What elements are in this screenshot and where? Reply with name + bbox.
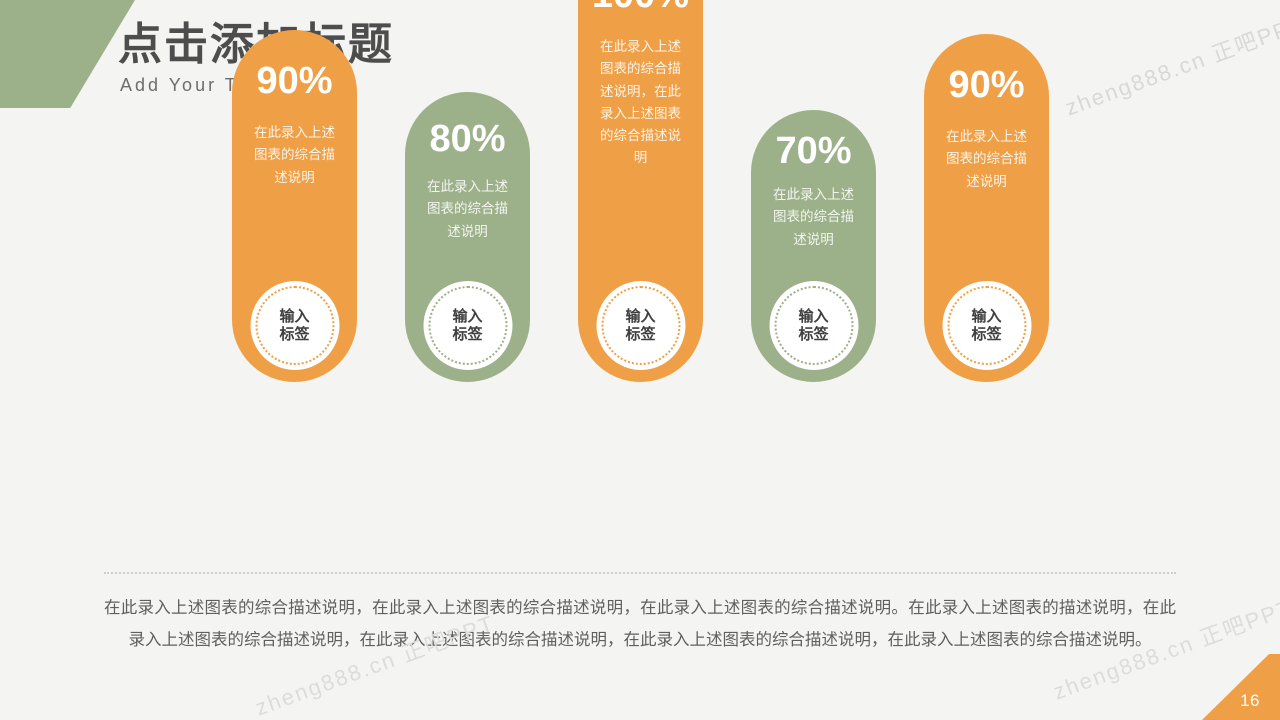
bar-label-circle-1[interactable]: 输入标签 [250,281,339,370]
bar-label-text-4: 输入标签 [797,308,831,343]
bar-label-circle-3[interactable]: 输入标签 [596,281,685,370]
bar-label-text-1: 输入标签 [278,308,312,343]
bar-item-5[interactable]: 90% 在此录入上述图表的综合描述说明 输入标签 [924,34,1049,382]
bar-percent-4: 70% [775,132,851,170]
bar-item-1[interactable]: 90% 在此录入上述图表的综合描述说明 输入标签 [232,30,357,382]
bar-label-text-3: 输入标签 [624,308,658,343]
bar-item-4[interactable]: 70% 在此录入上述图表的综合描述说明 输入标签 [751,110,876,382]
bar-description-3: 在此录入上述图表的综合描述说明，在此录入上述图表的综合描述说明 [597,36,685,170]
bar-description-1: 在此录入上述图表的综合描述说明 [251,122,339,189]
bar-description-4: 在此录入上述图表的综合描述说明 [770,184,858,251]
bar-chart: 90% 在此录入上述图表的综合描述说明 输入标签 80% 在此录入上述图表的综合… [0,0,1280,560]
bar-description-2: 在此录入上述图表的综合描述说明 [424,176,512,243]
bar-label-circle-2[interactable]: 输入标签 [423,281,512,370]
bar-item-3[interactable]: 100% 在此录入上述图表的综合描述说明，在此录入上述图表的综合描述说明 输入标… [578,0,703,382]
bar-percent-1: 90% [256,62,332,100]
bar-label-circle-5[interactable]: 输入标签 [942,281,1031,370]
bar-label-text-2: 输入标签 [451,308,485,343]
bar-label-circle-4[interactable]: 输入标签 [769,281,858,370]
slide-canvas: 16 点击添加标题 Add Your Title 90% 在此录入上述图表的综合… [0,0,1280,720]
bar-item-2[interactable]: 80% 在此录入上述图表的综合描述说明 输入标签 [405,92,530,382]
bar-percent-5: 90% [948,66,1024,104]
bar-description-5: 在此录入上述图表的综合描述说明 [943,126,1031,193]
bar-percent-2: 80% [429,120,505,158]
bar-percent-3: 100% [592,0,689,14]
footer-paragraph: 在此录入上述图表的综合描述说明，在此录入上述图表的综合描述说明，在此录入上述图表… [104,592,1176,656]
page-number: 16 [1240,691,1260,711]
footer-divider [104,572,1176,574]
bar-label-text-5: 输入标签 [970,308,1004,343]
